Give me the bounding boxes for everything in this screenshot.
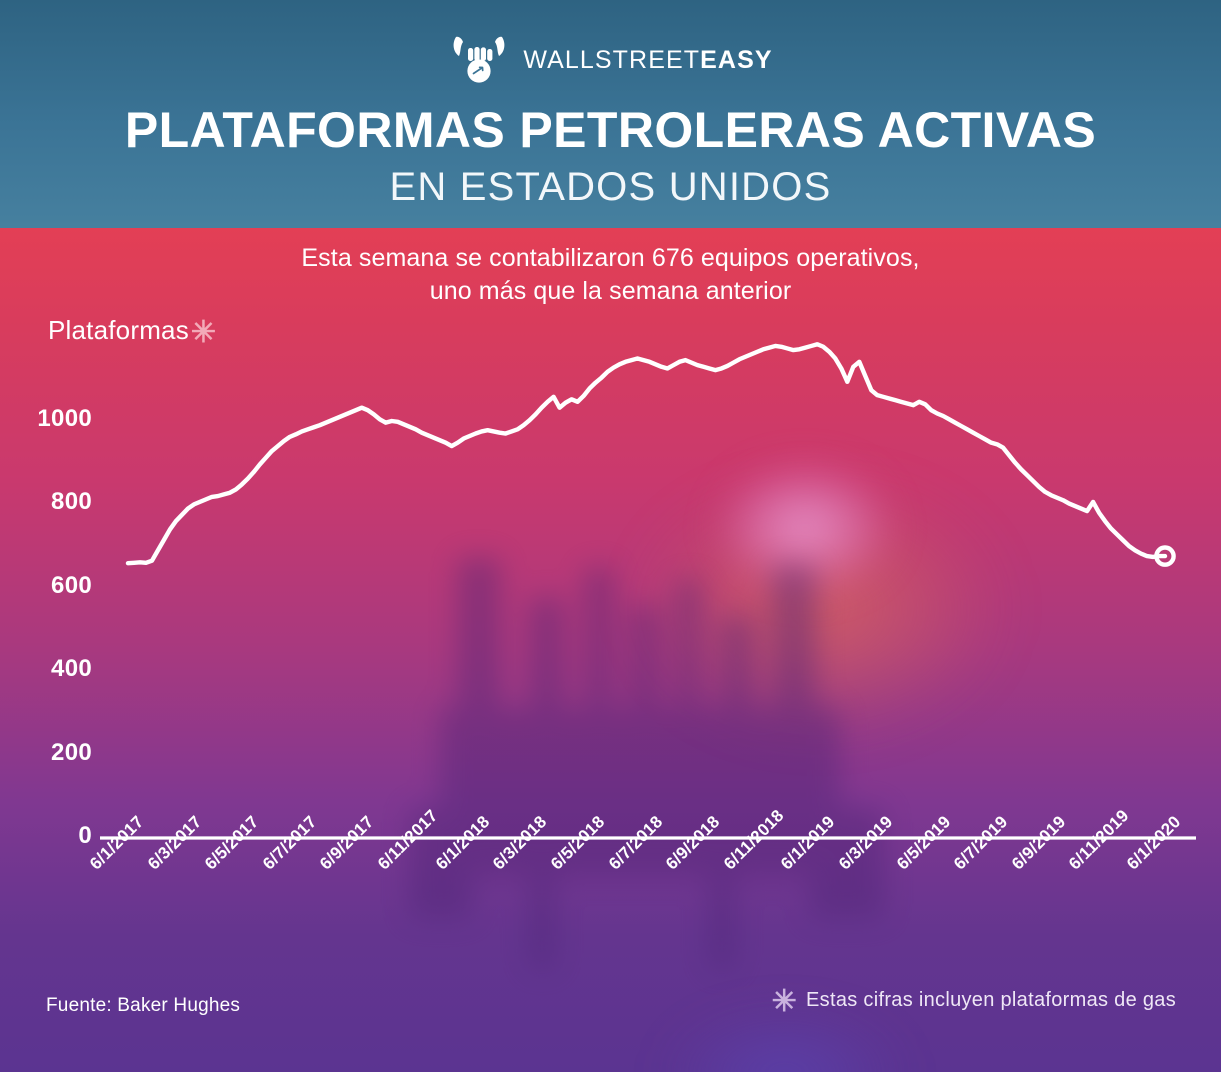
bull-fist-icon [448,34,510,86]
footnote: ✳ Estas cifras incluyen plataformas de g… [772,985,1176,1015]
x-axis-tick-2: 6/5/2017 [201,812,263,874]
x-axis-tick-1: 6/3/2017 [144,812,206,874]
x-axis-tick-3: 6/7/2017 [259,812,321,874]
x-axis-tick-15: 6/7/2019 [950,812,1012,874]
x-axis-tick-6: 6/1/2018 [432,812,494,874]
brand-logo[interactable]: WALLSTREETEASY [0,34,1221,86]
brand-name-light: WALLSTREET [523,46,700,74]
source-note: Fuente: Baker Hughes [46,995,240,1017]
x-axis-tick-11: 6/11/2018 [720,806,788,874]
header-band: WALLSTREETEASY PLATAFORMAS PETROLERAS AC… [0,0,1221,228]
x-axis-tick-8: 6/5/2018 [547,812,609,874]
x-axis-tick-13: 6/3/2019 [835,812,897,874]
infographic-root: WALLSTREETEASY PLATAFORMAS PETROLERAS AC… [0,0,1221,1072]
x-axis-tick-16: 6/9/2019 [1008,812,1070,874]
asterisk-footnote-icon: ✳ [772,987,797,1017]
page-title: PLATAFORMAS PETROLERAS ACTIVAS [0,104,1221,156]
chart-panel: Esta semana se contabilizaron 676 equipo… [0,228,1221,1072]
x-axis-tick-17: 6/11/2019 [1065,806,1133,874]
x-axis-tick-4: 6/9/2017 [316,812,378,874]
x-axis-tick-0: 6/1/2017 [86,812,148,874]
x-axis-ticks: 6/1/20176/3/20176/5/20176/7/20176/9/2017… [0,228,1221,1072]
x-axis-tick-9: 6/7/2018 [605,812,667,874]
page-subtitle: EN ESTADOS UNIDOS [0,166,1221,208]
brand-wordmark: WALLSTREETEASY [523,46,772,75]
footnote-label: Estas cifras incluyen plataformas de gas [806,989,1176,1012]
brand-name-bold: EASY [700,46,772,74]
x-axis-tick-14: 6/5/2019 [893,812,955,874]
x-axis-tick-10: 6/9/2018 [662,812,724,874]
x-axis-tick-7: 6/3/2018 [489,812,551,874]
x-axis-tick-5: 6/11/2017 [374,806,442,874]
x-axis-tick-18: 6/1/2020 [1123,812,1185,874]
